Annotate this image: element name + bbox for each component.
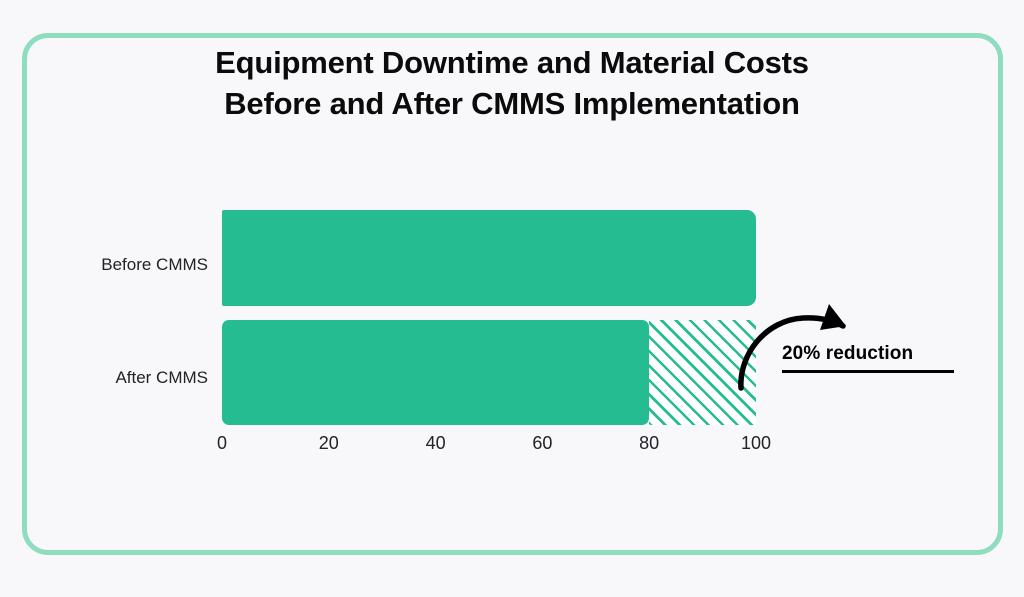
chart-title-line-1: Equipment Downtime and Material Costs (0, 42, 1024, 83)
x-axis-tick-40: 40 (426, 433, 446, 454)
bar-group-after-cmms (222, 320, 756, 425)
y-axis-label-after: After CMMS (115, 368, 208, 388)
chart-canvas: Equipment Downtime and Material Costs Be… (0, 0, 1024, 597)
y-axis-category-labels: Before CMMS After CMMS (0, 200, 208, 435)
reduction-annotation-underline (782, 370, 954, 373)
chart-title: Equipment Downtime and Material Costs Be… (0, 42, 1024, 124)
x-axis-tick-20: 20 (319, 433, 339, 454)
bar-after-cmms (222, 320, 649, 425)
plot-area (222, 200, 756, 435)
x-axis-tick-80: 80 (639, 433, 659, 454)
bar-group-before-cmms (222, 210, 756, 306)
x-axis-tick-0: 0 (217, 433, 227, 454)
reduction-annotation-label: 20% reduction (782, 343, 919, 365)
x-axis-tick-60: 60 (532, 433, 552, 454)
bar-after-cmms-reduction-hatch (649, 320, 756, 425)
chart-title-line-2: Before and After CMMS Implementation (0, 83, 1024, 124)
x-axis-tick-100: 100 (741, 433, 771, 454)
x-axis-tick-labels: 0 20 40 60 80 100 (222, 433, 756, 463)
y-axis-label-before: Before CMMS (101, 255, 208, 275)
bar-before-cmms (222, 210, 756, 306)
